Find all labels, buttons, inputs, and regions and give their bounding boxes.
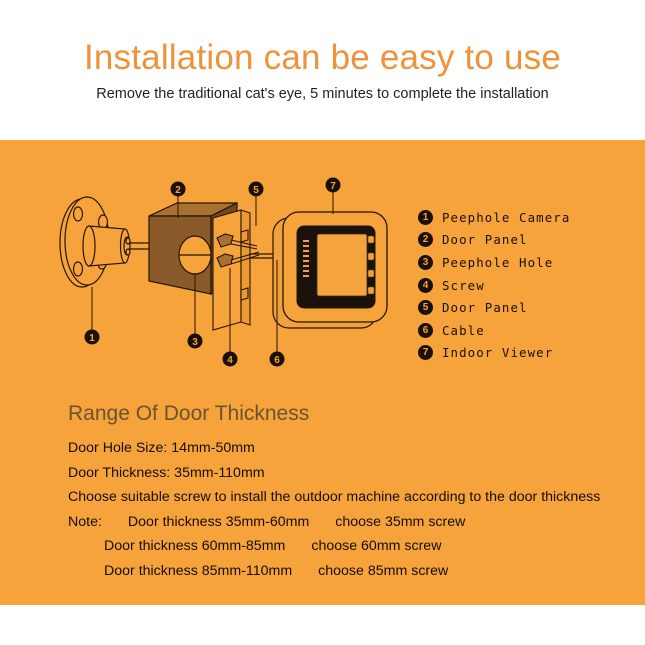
spec-heading: Range Of Door Thickness bbox=[68, 402, 608, 426]
legend-label-6: Cable bbox=[442, 323, 485, 338]
legend-item-7: 7 Indoor Viewer bbox=[418, 342, 633, 365]
callout-badge-5: 5 bbox=[249, 182, 264, 197]
orange-content-panel: 1 2 3 4 5 bbox=[0, 140, 645, 605]
spec-choose-screw: Choose suitable screw to install the out… bbox=[68, 489, 608, 505]
viewer-button-3 bbox=[368, 270, 374, 277]
spec-hole-size: Door Hole Size: 14mm-50mm bbox=[68, 440, 608, 456]
callout-badge-4: 4 bbox=[223, 352, 238, 367]
callout-badge-1: 1 bbox=[85, 330, 100, 345]
legend-badge-1: 1 bbox=[418, 210, 433, 225]
svg-text:7: 7 bbox=[330, 181, 336, 192]
svg-text:2: 2 bbox=[175, 185, 181, 196]
legend-badge-3: 3 bbox=[418, 255, 433, 270]
legend-label-2: Door Panel bbox=[442, 232, 528, 247]
viewer-screen bbox=[317, 234, 367, 296]
note-screw-2: choose 60mm screw bbox=[311, 538, 441, 554]
peephole-camera-part bbox=[60, 197, 149, 287]
legend-badge-2: 2 bbox=[418, 232, 433, 247]
legend-badge-4: 4 bbox=[418, 278, 433, 293]
callout-badge-2: 2 bbox=[171, 182, 186, 197]
svg-text:4: 4 bbox=[227, 355, 233, 366]
legend-badge-6: 6 bbox=[418, 323, 433, 338]
callout-badge-3: 3 bbox=[188, 334, 203, 349]
note-range-3: Door thickness 85mm-110mm bbox=[104, 563, 292, 579]
note-range-1: Door thickness 35mm-60mm bbox=[128, 514, 309, 530]
legend-label-3: Peephole Hole bbox=[442, 255, 553, 270]
door-thickness-spec-block: Range Of Door Thickness Door Hole Size: … bbox=[68, 402, 608, 587]
legend-item-6: 6 Cable bbox=[418, 319, 633, 342]
svg-text:3: 3 bbox=[192, 337, 198, 348]
note-range-2: Door thickness 60mm-85mm bbox=[104, 538, 285, 554]
exploded-assembly-diagram: 1 2 3 4 5 bbox=[45, 170, 415, 380]
legend-item-3: 3 Peephole Hole bbox=[418, 251, 633, 274]
parts-legend: 1 Peephole Camera 2 Door Panel 3 Peephol… bbox=[418, 206, 633, 364]
door-panel-plate-part bbox=[213, 210, 250, 330]
note-screw-3: choose 85mm screw bbox=[318, 563, 448, 579]
spec-note-row-3: Door thickness 85mm-110mmchoose 85mm scr… bbox=[68, 563, 608, 579]
note-prefix: Note: bbox=[68, 514, 102, 530]
callout-badge-6: 6 bbox=[270, 352, 285, 367]
legend-item-5: 5 Door Panel bbox=[418, 296, 633, 319]
viewer-button-2 bbox=[368, 253, 374, 260]
peephole-hole-part bbox=[179, 236, 211, 274]
page-title: Installation can be easy to use bbox=[0, 38, 645, 78]
legend-label-5: Door Panel bbox=[442, 300, 528, 315]
svg-text:1: 1 bbox=[89, 333, 95, 344]
svg-text:5: 5 bbox=[253, 185, 259, 196]
legend-item-1: 1 Peephole Camera bbox=[418, 206, 633, 229]
legend-item-4: 4 Screw bbox=[418, 274, 633, 297]
callout-badge-7: 7 bbox=[326, 178, 341, 193]
legend-label-7: Indoor Viewer bbox=[442, 345, 553, 360]
indoor-viewer-part bbox=[273, 212, 387, 328]
header-banner: Installation can be easy to use Remove t… bbox=[0, 0, 645, 140]
legend-label-1: Peephole Camera bbox=[442, 210, 570, 225]
spec-note-row-1: Note:Door thickness 35mm-60mmchoose 35mm… bbox=[68, 514, 608, 530]
spec-thickness: Door Thickness: 35mm-110mm bbox=[68, 465, 608, 481]
viewer-button-1 bbox=[368, 236, 374, 243]
note-screw-1: choose 35mm screw bbox=[335, 514, 465, 530]
legend-item-2: 2 Door Panel bbox=[418, 229, 633, 252]
spec-note-row-2: Door thickness 60mm-85mmchoose 60mm scre… bbox=[68, 538, 608, 554]
legend-label-4: Screw bbox=[442, 278, 485, 293]
legend-badge-5: 5 bbox=[418, 300, 433, 315]
viewer-button-4 bbox=[368, 287, 374, 294]
svg-text:6: 6 bbox=[274, 355, 280, 366]
legend-badge-7: 7 bbox=[418, 345, 433, 360]
page-subtitle: Remove the traditional cat's eye, 5 minu… bbox=[0, 86, 645, 102]
